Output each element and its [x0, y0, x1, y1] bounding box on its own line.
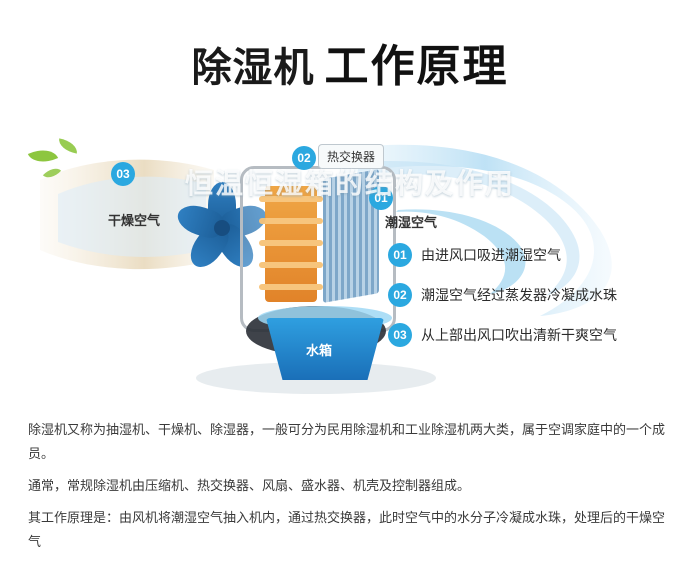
step-badge-03: 03 — [388, 323, 412, 347]
dry-air-label: 干燥空气 — [108, 210, 160, 229]
water-tank-label: 水箱 — [306, 340, 332, 359]
paragraph-3: 其工作原理是：由风机将潮湿空气抽入机内，通过热交换器，此时空气中的水分子冷凝成水… — [28, 506, 676, 554]
title-part2: 工作原理 — [325, 42, 509, 91]
list-item: 03 从上部出风口吹出清新干爽空气 — [388, 323, 688, 347]
description-text: 除湿机又称为抽湿机、干燥机、除湿器，一般可分为民用除湿机和工业除湿机两大类，属于… — [28, 418, 676, 566]
paragraph-1: 除湿机又称为抽湿机、干燥机、除湿器，一般可分为民用除湿机和工业除湿机两大类，属于… — [28, 418, 676, 466]
step-text-03: 从上部出风口吹出清新干爽空气 — [421, 325, 617, 345]
step-badge-02: 02 — [388, 283, 412, 307]
step-text-01: 由进风口吸进潮湿空气 — [421, 245, 561, 265]
paragraph-4: 排出机外，如此循环使室内湿度保持在适宜的相对湿度。 — [28, 562, 676, 566]
step-badge-01: 01 — [388, 243, 412, 267]
steps-list: 01 由进风口吸进潮湿空气 02 潮湿空气经过蒸发器冷凝成水珠 03 从上部出风… — [388, 243, 688, 363]
step-text-02: 潮湿空气经过蒸发器冷凝成水珠 — [421, 285, 617, 305]
condenser-coil-icon — [265, 186, 317, 302]
diagram-badge-03: 03 — [111, 162, 135, 186]
list-item: 01 由进风口吸进潮湿空气 — [388, 243, 688, 267]
title-part1: 除湿机 — [192, 46, 315, 90]
page-title: 除湿机工作原理 — [0, 30, 700, 94]
paragraph-2: 通常，常规除湿机由压缩机、热交换器、风扇、盛水器、机壳及控制器组成。 — [28, 474, 676, 498]
heat-exchanger-fins-icon — [323, 169, 379, 303]
infographic-page: 除湿机工作原理 — [0, 0, 700, 566]
wet-air-label: 潮湿空气 — [385, 212, 437, 231]
list-item: 02 潮湿空气经过蒸发器冷凝成水珠 — [388, 283, 688, 307]
heat-exchanger-label: 热交换器 — [318, 144, 384, 169]
diagram-badge-02: 02 — [292, 146, 316, 170]
diagram-badge-01: 01 — [369, 186, 393, 210]
